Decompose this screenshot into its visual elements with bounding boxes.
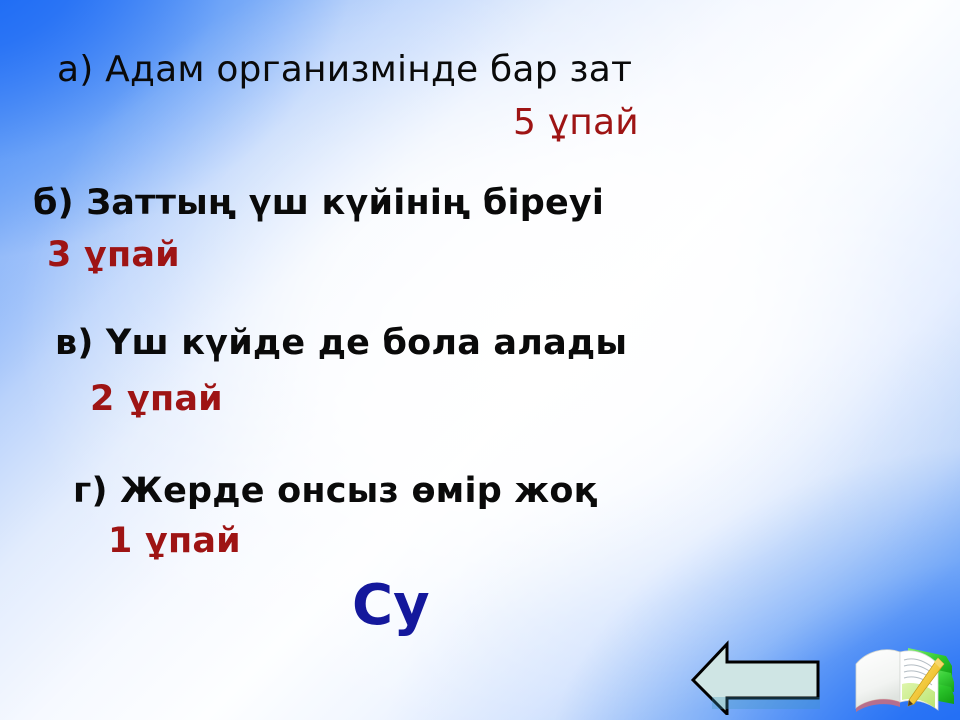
clue-b-points: 3 ұпай xyxy=(47,238,180,273)
answer-word: Су xyxy=(352,578,430,634)
clue-d-points: 1 ұпай xyxy=(108,524,241,559)
slide-content: а) Адам организмінде бар зат 5 ұпай б) З… xyxy=(0,0,960,720)
books-notebook-pencil-icon xyxy=(852,628,956,716)
clue-c-question: в) Үш күйде де бола алады xyxy=(55,326,627,361)
clue-b-question: б) Заттың үш күйінің біреуі xyxy=(33,186,604,221)
watermark-text xyxy=(712,697,820,709)
clue-a-question: а) Адам организмінде бар зат xyxy=(57,52,632,88)
clue-a-points: 5 ұпай xyxy=(513,105,639,141)
slide-canvas: а) Адам организмінде бар зат 5 ұпай б) З… xyxy=(0,0,960,720)
books-notebook-icon xyxy=(852,628,956,716)
clue-d-question: г) Жерде онсыз өмір жоқ xyxy=(73,474,598,509)
notebook-left-page xyxy=(856,650,900,708)
clue-c-points: 2 ұпай xyxy=(90,382,223,417)
